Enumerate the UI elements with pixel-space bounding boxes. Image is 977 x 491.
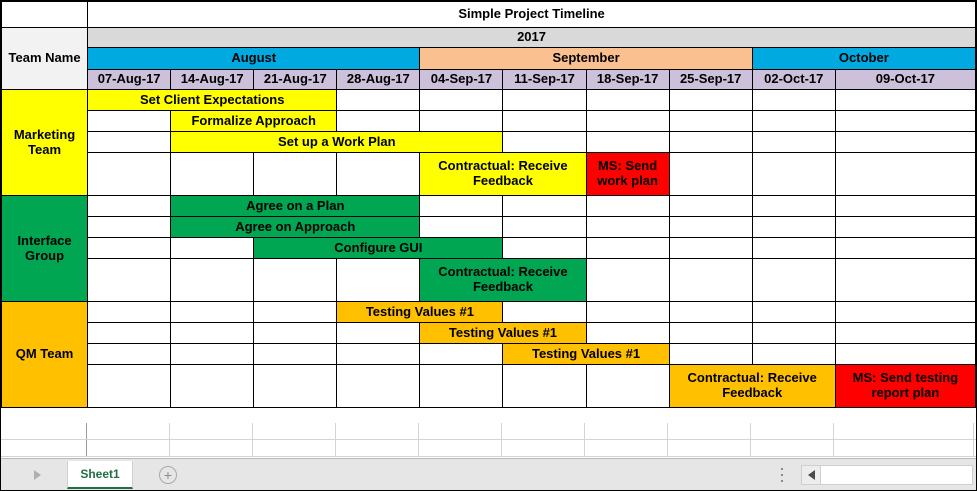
empty-cell[interactable] (586, 132, 669, 153)
date-header-cell: 25-Sep-17 (669, 70, 752, 90)
empty-cell[interactable] (503, 238, 586, 259)
empty-cell[interactable] (835, 90, 975, 111)
empty-cell[interactable] (835, 111, 975, 132)
empty-cell[interactable] (752, 217, 835, 238)
empty-cell[interactable] (586, 365, 669, 408)
task-bar[interactable]: Contractual: Receive Feedback (669, 365, 835, 408)
date-header-cell: 11-Sep-17 (503, 70, 586, 90)
sheet-tab-sheet1[interactable]: Sheet1 (67, 461, 133, 489)
date-header-cell: 04-Sep-17 (420, 70, 503, 90)
page-title: Simple Project Timeline (88, 2, 976, 28)
empty-sheet-row[interactable] (1, 423, 976, 440)
empty-sheet-cell[interactable] (502, 423, 585, 439)
triangle-left-icon (808, 470, 815, 480)
empty-cell[interactable] (254, 344, 337, 365)
empty-sheet-row[interactable] (1, 440, 976, 457)
empty-cell[interactable] (669, 153, 752, 196)
empty-cell[interactable] (586, 323, 669, 344)
empty-sheet-cell[interactable] (87, 440, 170, 456)
sheet-tab-label: Sheet1 (80, 467, 119, 481)
empty-cell[interactable] (835, 302, 975, 323)
empty-cell[interactable] (337, 344, 420, 365)
empty-cell[interactable] (503, 111, 586, 132)
empty-sheet-cell[interactable] (253, 440, 336, 456)
empty-cell[interactable] (752, 132, 835, 153)
empty-cell[interactable] (835, 259, 975, 302)
empty-cell[interactable] (171, 153, 254, 196)
add-sheet-icon[interactable]: + (159, 466, 177, 484)
worksheet-grid[interactable]: Simple Project TimelineTeam Name2017Augu… (1, 1, 976, 457)
empty-sheet-cell[interactable] (585, 440, 668, 456)
task-row: Testing Values #1 (2, 344, 976, 365)
task-row: Testing Values #1 (2, 323, 976, 344)
empty-cell[interactable] (171, 259, 254, 302)
empty-cell[interactable] (88, 323, 171, 344)
empty-cell[interactable] (254, 323, 337, 344)
scrollbar-track[interactable] (821, 466, 972, 484)
empty-cell[interactable] (337, 365, 420, 408)
empty-cell[interactable] (88, 344, 171, 365)
empty-cell[interactable] (669, 132, 752, 153)
dot (781, 468, 783, 470)
empty-cell[interactable] (88, 153, 171, 196)
empty-cell[interactable] (337, 153, 420, 196)
empty-cell[interactable] (420, 90, 503, 111)
empty-cell[interactable] (752, 196, 835, 217)
month-row: AugustSeptemberOctober (2, 48, 976, 70)
empty-cell[interactable] (669, 196, 752, 217)
empty-sheet-cell[interactable] (253, 423, 336, 439)
empty-cell[interactable] (254, 259, 337, 302)
empty-sheet-cell[interactable] (668, 440, 751, 456)
empty-cell[interactable] (752, 111, 835, 132)
empty-cell[interactable] (835, 153, 975, 196)
empty-cell[interactable] (835, 217, 975, 238)
team-name-header: Team Name (2, 28, 88, 90)
empty-cell[interactable] (669, 259, 752, 302)
empty-sheet-cell[interactable] (170, 423, 253, 439)
empty-sheet-cell[interactable] (585, 423, 668, 439)
empty-cell[interactable] (586, 217, 669, 238)
empty-cell[interactable] (669, 90, 752, 111)
task-row: Set up a Work Plan (2, 132, 976, 153)
title-row: Simple Project Timeline (2, 2, 976, 28)
empty-cell[interactable] (88, 238, 171, 259)
empty-sheet-cell[interactable] (502, 440, 585, 456)
task-bar[interactable]: Set up a Work Plan (171, 132, 503, 153)
empty-cell[interactable] (586, 238, 669, 259)
split-handle-dots-icon[interactable] (780, 468, 784, 482)
dot (781, 480, 783, 482)
date-header-cell: 07-Aug-17 (88, 70, 171, 90)
empty-cell[interactable] (254, 153, 337, 196)
empty-cell[interactable] (88, 132, 171, 153)
empty-cell[interactable] (586, 90, 669, 111)
empty-cell[interactable] (254, 365, 337, 408)
empty-cell[interactable] (835, 344, 975, 365)
empty-cell[interactable] (669, 323, 752, 344)
team-label-marketing-team: Marketing Team (2, 90, 88, 196)
task-row: Interface GroupAgree on a Plan (2, 196, 976, 217)
date-header-cell: 02-Oct-17 (752, 70, 835, 90)
spreadsheet-window: Simple Project TimelineTeam Name2017Augu… (0, 0, 977, 491)
empty-sheet-cell[interactable] (1, 440, 87, 456)
empty-cell[interactable] (752, 302, 835, 323)
empty-sheet-cell[interactable] (419, 440, 502, 456)
task-row: QM TeamTesting Values #1 (2, 302, 976, 323)
task-bar[interactable]: Testing Values #1 (420, 323, 586, 344)
empty-cell[interactable] (503, 365, 586, 408)
empty-cell[interactable] (420, 365, 503, 408)
task-bar[interactable]: Formalize Approach (171, 111, 337, 132)
date-header-cell: 21-Aug-17 (254, 70, 337, 90)
empty-sheet-cell[interactable] (419, 423, 502, 439)
empty-cell[interactable] (171, 323, 254, 344)
sheet-status-bar: Sheet1 + (1, 458, 976, 490)
empty-cell[interactable] (88, 365, 171, 408)
month-header-september: September (420, 48, 752, 70)
empty-cell[interactable] (88, 302, 171, 323)
empty-cell[interactable] (586, 196, 669, 217)
date-header-cell: 14-Aug-17 (171, 70, 254, 90)
empty-cell[interactable] (254, 302, 337, 323)
sheet-nav-arrow-button[interactable] (9, 465, 65, 485)
date-header-cell: 18-Sep-17 (586, 70, 669, 90)
empty-cell[interactable] (88, 217, 171, 238)
task-bar[interactable]: Configure GUI (254, 238, 503, 259)
month-header-august: August (88, 48, 420, 70)
empty-cell[interactable] (835, 323, 975, 344)
empty-cell[interactable] (503, 132, 586, 153)
empty-cell[interactable] (171, 302, 254, 323)
scroll-left-button[interactable] (802, 466, 821, 484)
empty-cell[interactable] (171, 344, 254, 365)
empty-sheet-cell[interactable] (336, 423, 419, 439)
corner-cell[interactable] (2, 2, 88, 28)
triangle-right-icon (34, 470, 41, 480)
empty-sheet-cell[interactable] (336, 440, 419, 456)
team-label-interface-group: Interface Group (2, 196, 88, 302)
task-bar[interactable]: Testing Values #1 (337, 302, 503, 323)
empty-cell[interactable] (503, 302, 586, 323)
empty-cell[interactable] (752, 238, 835, 259)
timeline-table: Simple Project TimelineTeam Name2017Augu… (1, 1, 976, 408)
month-header-october: October (752, 48, 975, 70)
empty-cell[interactable] (171, 238, 254, 259)
empty-cell[interactable] (752, 344, 835, 365)
task-bar[interactable]: Contractual: Receive Feedback (420, 153, 586, 196)
empty-cell[interactable] (835, 238, 975, 259)
date-header-cell: 09-Oct-17 (835, 70, 975, 90)
empty-cell[interactable] (586, 259, 669, 302)
year-row: Team Name2017 (2, 28, 976, 48)
empty-cell[interactable] (669, 217, 752, 238)
empty-cell[interactable] (88, 111, 171, 132)
year-header: 2017 (88, 28, 976, 48)
task-bar[interactable]: Testing Values #1 (503, 344, 669, 365)
horizontal-scrollbar[interactable] (801, 465, 973, 485)
dot (781, 474, 783, 476)
task-row: Contractual: Receive Feedback (2, 259, 976, 302)
date-header-cell: 28-Aug-17 (337, 70, 420, 90)
empty-cell[interactable] (88, 196, 171, 217)
empty-rows-area[interactable] (1, 423, 976, 457)
task-row: Configure GUI (2, 238, 976, 259)
task-bar[interactable]: Contractual: Receive Feedback (420, 259, 586, 302)
empty-cell[interactable] (420, 111, 503, 132)
empty-cell[interactable] (420, 217, 503, 238)
plus-icon: + (164, 467, 172, 483)
empty-cell[interactable] (752, 90, 835, 111)
empty-sheet-cell[interactable] (751, 440, 834, 456)
empty-sheet-cell[interactable] (668, 423, 751, 439)
date-row: 07-Aug-1714-Aug-1721-Aug-1728-Aug-1704-S… (2, 70, 976, 90)
empty-sheet-cell[interactable] (834, 423, 974, 439)
milestone-bar[interactable]: MS: Send testing report plan (835, 365, 975, 408)
empty-cell[interactable] (669, 238, 752, 259)
empty-sheet-cell[interactable] (87, 423, 170, 439)
empty-cell[interactable] (503, 217, 586, 238)
empty-cell[interactable] (503, 90, 586, 111)
milestone-bar[interactable]: MS: Send work plan (586, 153, 669, 196)
empty-sheet-cell[interactable] (834, 440, 974, 456)
task-bar[interactable]: Set Client Expectations (88, 90, 337, 111)
task-bar[interactable]: Agree on Approach (171, 217, 420, 238)
task-row: Contractual: Receive FeedbackMS: Send te… (2, 365, 976, 408)
task-row: Contractual: Receive FeedbackMS: Send wo… (2, 153, 976, 196)
task-bar[interactable]: Agree on a Plan (171, 196, 420, 217)
empty-cell[interactable] (752, 259, 835, 302)
empty-cell[interactable] (752, 323, 835, 344)
task-row: Formalize Approach (2, 111, 976, 132)
empty-cell[interactable] (420, 196, 503, 217)
team-label-qm-team: QM Team (2, 302, 88, 408)
empty-cell[interactable] (420, 344, 503, 365)
empty-cell[interactable] (669, 302, 752, 323)
empty-cell[interactable] (669, 344, 752, 365)
empty-cell[interactable] (835, 196, 975, 217)
empty-cell[interactable] (752, 153, 835, 196)
task-row: Agree on Approach (2, 217, 976, 238)
empty-cell[interactable] (586, 302, 669, 323)
empty-cell[interactable] (88, 259, 171, 302)
empty-sheet-cell[interactable] (751, 423, 834, 439)
empty-cell[interactable] (669, 111, 752, 132)
empty-sheet-cell[interactable] (1, 423, 87, 439)
empty-cell[interactable] (586, 111, 669, 132)
empty-cell[interactable] (337, 259, 420, 302)
task-row: Marketing TeamSet Client Expectations (2, 90, 976, 111)
empty-cell[interactable] (337, 90, 420, 111)
empty-sheet-cell[interactable] (170, 440, 253, 456)
empty-cell[interactable] (337, 323, 420, 344)
empty-cell[interactable] (503, 196, 586, 217)
empty-cell[interactable] (337, 111, 420, 132)
empty-cell[interactable] (835, 132, 975, 153)
empty-cell[interactable] (171, 365, 254, 408)
